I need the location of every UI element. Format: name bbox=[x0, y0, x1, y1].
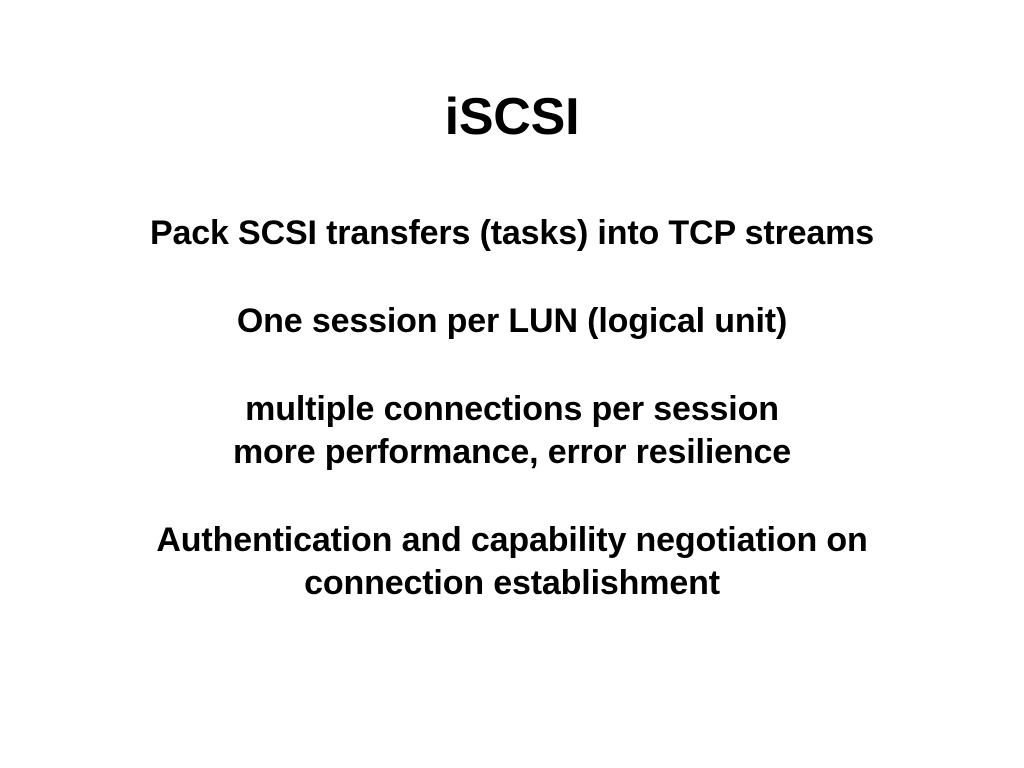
bullet-line: One session per LUN (logical unit) bbox=[0, 300, 1024, 343]
presentation-slide: iSCSI Pack SCSI transfers (tasks) into T… bbox=[0, 0, 1024, 768]
bullet-pack-scsi-transfers: Pack SCSI transfers (tasks) into TCP str… bbox=[0, 212, 1024, 255]
bullet-line: Pack SCSI transfers (tasks) into TCP str… bbox=[0, 212, 1024, 255]
bullet-line: multiple connections per session bbox=[0, 388, 1024, 431]
slide-title: iSCSI bbox=[0, 88, 1024, 146]
bullet-multiple-connections: multiple connections per session more pe… bbox=[0, 388, 1024, 474]
bullet-line: more performance, error resilience bbox=[0, 431, 1024, 474]
bullet-one-session-per-lun: One session per LUN (logical unit) bbox=[0, 300, 1024, 343]
bullet-line: connection establishment bbox=[0, 562, 1024, 605]
bullet-authentication-negotiation: Authentication and capability negotiatio… bbox=[0, 519, 1024, 605]
bullet-line: Authentication and capability negotiatio… bbox=[0, 519, 1024, 562]
slide-body: Pack SCSI transfers (tasks) into TCP str… bbox=[0, 212, 1024, 605]
